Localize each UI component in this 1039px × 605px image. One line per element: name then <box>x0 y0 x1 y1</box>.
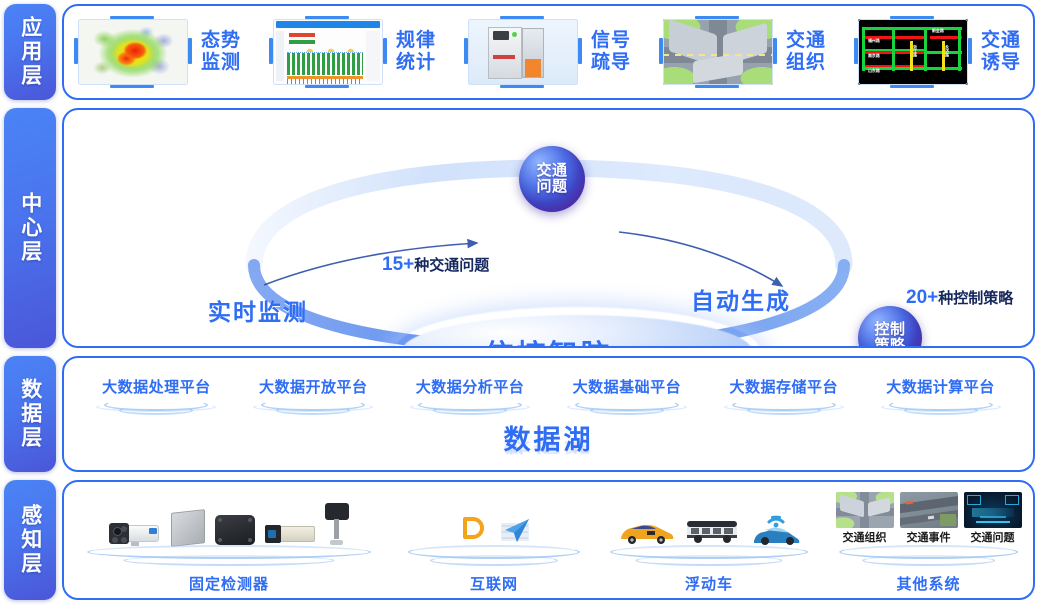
app-item-signal-dredging[interactable]: 信号 疏导 <box>464 16 631 88</box>
wave-icon-4 <box>724 399 844 417</box>
data-platform-label-1: 大数据开放平台 <box>253 376 373 397</box>
wave-icon-0 <box>96 399 216 417</box>
center-layer-panel: 信控智脑 交通 问题 控制 策略 效果 评价 出行 规律 实时监测 自动生成 实… <box>62 108 1035 348</box>
rail-item-application-layer[interactable]: 应用层 <box>4 4 56 100</box>
road-network-thumbnail <box>836 492 894 528</box>
data-platform-label-3: 大数据基础平台 <box>567 376 687 397</box>
sense-label-floating-car: 浮动车 <box>685 573 733 594</box>
data-platform-label-5: 大数据计算平台 <box>881 376 1001 397</box>
wave-icon-5 <box>881 399 1001 417</box>
rail-label-perception-layer: 感知层 <box>18 504 42 576</box>
other-system-traffic-event[interactable]: 交通事件 <box>900 492 958 545</box>
stat-text-traffic-problem: 种交通问题 <box>414 257 489 274</box>
pole-camera-icon <box>325 503 349 545</box>
data-platform-label-4: 大数据存储平台 <box>724 376 844 397</box>
didi-logo-icon <box>459 515 489 545</box>
stat-control-strategy-count: 20+种控制策略 <box>906 287 1013 309</box>
statistics-chart-thumbnail <box>269 16 387 88</box>
stat-traffic-problem-count: 15+种交通问题 <box>382 254 489 276</box>
pedestal-disc-fixed-detectors <box>64 545 394 571</box>
app-label-pattern-statistics: 规律 统计 <box>396 30 436 75</box>
sense-label-other-systems: 其他系统 <box>896 573 960 594</box>
other-system-traffic-problem[interactable]: 交通问题 <box>964 492 1022 545</box>
beige-camera-icon <box>265 525 315 545</box>
dark-dashboard-thumbnail <box>964 492 1022 528</box>
pedestal-disc-other-systems <box>824 545 1033 571</box>
other-system-caption-1: 交通事件 <box>907 529 951 545</box>
pedestal-disc-floating-car <box>594 545 824 571</box>
pedestal-disc-internet <box>394 545 594 571</box>
data-platform-analysis[interactable]: 大数据分析平台 <box>410 376 530 417</box>
wave-icon-1 <box>253 399 373 417</box>
data-layer-panel: 大数据处理平台 大数据开放平台 大数据分析平台 大数据基础平台 大数据存储平台 … <box>62 356 1035 472</box>
heatmap-thumbnail <box>74 16 192 88</box>
wave-icon-2 <box>410 399 530 417</box>
app-item-situation-monitoring[interactable]: 态势 监测 <box>74 16 241 88</box>
stat-num-traffic-problem: 15+ <box>382 254 414 275</box>
wave-icon-3 <box>567 399 687 417</box>
rail-item-perception-layer[interactable]: 感知层 <box>4 480 56 600</box>
sense-label-fixed-detectors: 固定检测器 <box>189 573 269 594</box>
app-item-pattern-statistics[interactable]: 规律 统计 <box>269 16 436 88</box>
rail-item-data-layer[interactable]: 数据层 <box>4 356 56 472</box>
data-lake-block: 数据湖 数据湖 <box>64 418 1033 472</box>
data-platform-label-0: 大数据处理平台 <box>96 376 216 397</box>
app-label-traffic-guidance: 交通 诱导 <box>981 30 1021 75</box>
stat-num-control-strategy: 20+ <box>906 287 938 308</box>
sense-label-internet: 互联网 <box>470 573 518 594</box>
app-label-signal-dredging: 信号 疏导 <box>591 30 631 75</box>
other-system-traffic-organization[interactable]: 交通组织 <box>836 492 894 545</box>
other-system-caption-2: 交通问题 <box>971 529 1015 545</box>
guidance-board-thumbnail: 福州路南京路山东路新金路浙江路永济路 <box>854 16 972 88</box>
data-platform-label-2: 大数据分析平台 <box>410 376 530 397</box>
data-platform-computing[interactable]: 大数据计算平台 <box>881 376 1001 417</box>
stat-text-control-strategy: 种控制策略 <box>938 290 1013 307</box>
sense-group-other-systems[interactable]: 交通组织 交通事件 <box>824 482 1033 598</box>
node-label-traffic-problem: 交通 问题 <box>536 163 567 195</box>
rail-label-data-layer: 数据层 <box>18 378 42 450</box>
data-platform-foundation[interactable]: 大数据基础平台 <box>567 376 687 417</box>
data-lake-reflection: 数据湖 <box>504 439 594 459</box>
sense-group-fixed-detectors[interactable]: 固定检测器 <box>64 482 394 598</box>
rail-label-application-layer: 应用层 <box>18 16 42 88</box>
app-label-situation-monitoring: 态势 监测 <box>201 30 241 75</box>
taxi-icon <box>617 519 673 545</box>
node-traffic-problem[interactable]: 交通 问题 <box>519 146 585 212</box>
flow-label-auto-generation: 自动生成 <box>691 282 791 316</box>
aerial-road-thumbnail <box>900 492 958 528</box>
node-label-control-strategy: 控制 策略 <box>874 322 905 348</box>
app-item-traffic-organization[interactable]: 交通 组织 <box>659 16 826 88</box>
rail-item-center-layer[interactable]: 中心层 <box>4 108 56 348</box>
data-platform-processing[interactable]: 大数据处理平台 <box>96 376 216 417</box>
connected-car-icon <box>749 511 801 545</box>
rail-label-center-layer: 中心层 <box>18 192 42 264</box>
bus-icon <box>683 517 739 545</box>
sense-group-internet[interactable]: 互联网 <box>394 482 594 598</box>
data-platform-row: 大数据处理平台 大数据开放平台 大数据分析平台 大数据基础平台 大数据存储平台 … <box>64 376 1033 417</box>
perception-layer-panel: 固定检测器 <box>62 480 1035 600</box>
data-platform-open[interactable]: 大数据开放平台 <box>253 376 373 417</box>
flow-label-real-time-monitoring: 实时监测 <box>208 293 308 327</box>
architecture-diagram: 应用层 中心层 数据层 感知层 态势 监测 <box>0 0 1039 605</box>
application-layer-panel: 态势 监测 规律 统计 <box>62 4 1035 100</box>
radar-panel-icon <box>171 510 205 548</box>
signal-cabinet-thumbnail <box>464 16 582 88</box>
bullet-camera-icon <box>109 523 161 545</box>
sense-group-floating-car[interactable]: 浮动车 <box>594 482 824 598</box>
interchange-thumbnail <box>659 16 777 88</box>
other-system-caption-0: 交通组织 <box>843 529 887 545</box>
app-item-traffic-guidance[interactable]: 福州路南京路山东路新金路浙江路永济路 交通 诱导 <box>854 16 1021 88</box>
black-detector-box-icon <box>215 515 255 545</box>
amap-logo-icon <box>499 517 529 545</box>
app-label-traffic-organization: 交通 组织 <box>786 30 826 75</box>
data-platform-storage[interactable]: 大数据存储平台 <box>724 376 844 417</box>
